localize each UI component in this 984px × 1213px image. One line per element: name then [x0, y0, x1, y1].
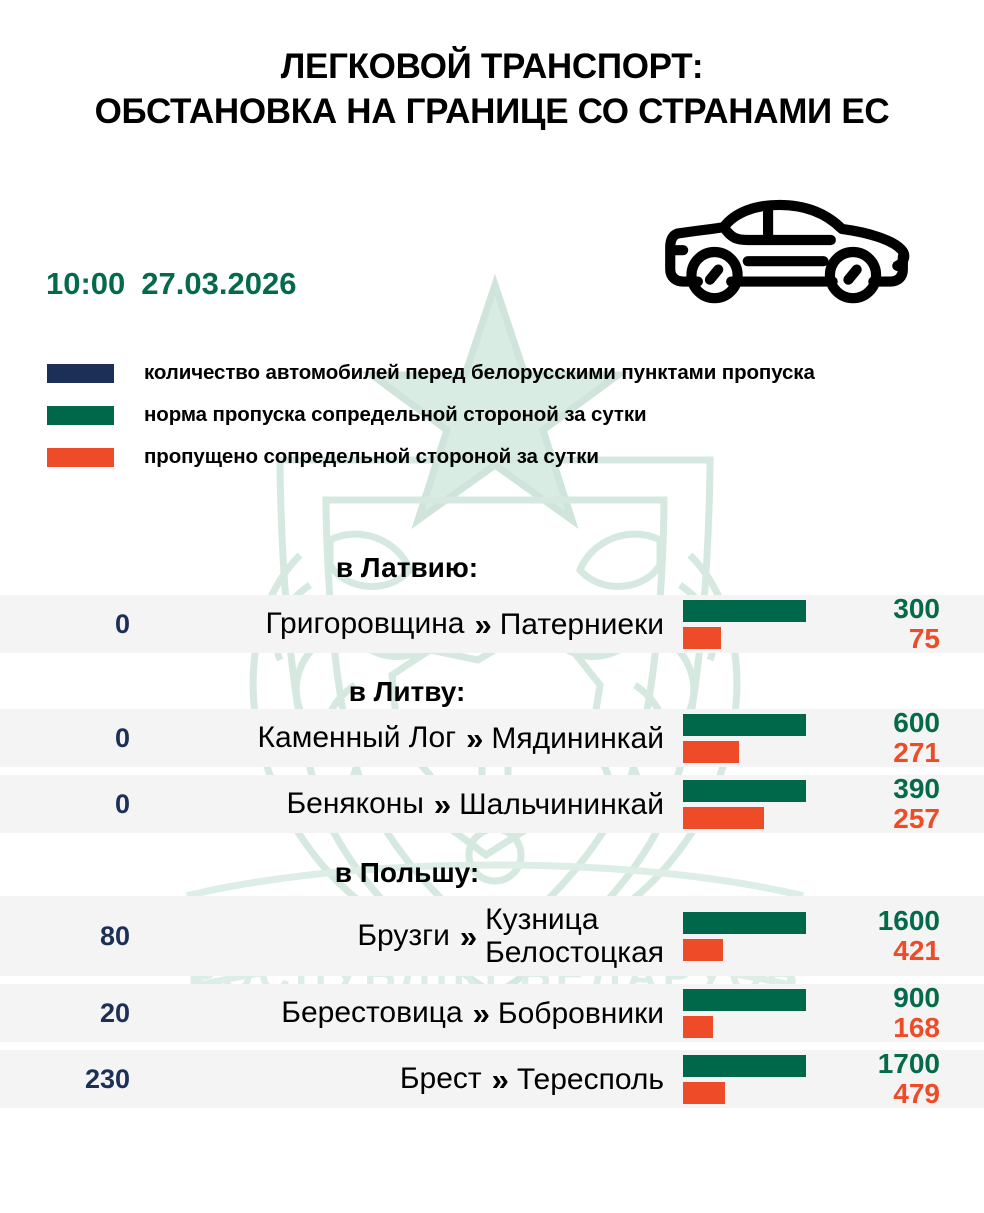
arrow-right-icon: » [466, 723, 481, 754]
value-group: 1600 421 [828, 906, 984, 966]
arrow-right-icon: » [434, 789, 449, 820]
queue-count: 80 [0, 921, 172, 952]
checkpoint-from: Григоровщина [266, 607, 465, 641]
section-heading-poland: в Польшу: [0, 841, 984, 896]
arrow-right-icon: » [474, 609, 489, 640]
queue-count: 230 [0, 1064, 172, 1095]
section-heading-latvia: в Латвию: [0, 540, 984, 595]
bar-group [676, 912, 828, 961]
bar-passed [683, 939, 723, 961]
legend-swatch-passed [47, 448, 114, 467]
table-row: 80 Брузги » Кузница Белостоцкая 1600 421 [0, 896, 984, 976]
legend-label-norm: норма пропуска сопредельной стороной за … [144, 403, 647, 427]
table-row: 20 Берестовица » Бобровники 900 168 [0, 984, 984, 1042]
table-row: 0 Григоровщина » Патерниеки 300 75 [0, 595, 984, 653]
table-row: 0 Беняконы » Шальчининкай 390 257 [0, 775, 984, 833]
checkpoint-from: Брузги [357, 919, 450, 953]
checkpoint-to: Тересполь [517, 1063, 664, 1096]
checkpoint-from: Берестовица [281, 996, 462, 1030]
bar-passed [683, 807, 764, 829]
bar-norm [683, 714, 806, 736]
value-passed: 421 [828, 936, 940, 966]
arrow-right-icon: » [460, 921, 475, 952]
bar-group [676, 600, 828, 649]
legend-swatch-norm [47, 406, 114, 425]
section-heading-lithuania: в Литву: [0, 661, 984, 709]
queue-count: 0 [0, 609, 172, 640]
queue-count: 0 [0, 723, 172, 754]
value-passed: 75 [828, 624, 940, 654]
bar-passed [683, 1016, 713, 1038]
bar-norm [683, 989, 806, 1011]
value-norm: 390 [828, 774, 940, 804]
arrow-right-icon: » [492, 1064, 507, 1095]
bar-group [676, 780, 828, 829]
page-title: ЛЕГКОВОЙ ТРАНСПОРТ: ОБСТАНОВКА НА ГРАНИЦ… [0, 44, 984, 134]
checkpoint-to: Кузница Белостоцкая [485, 903, 664, 969]
bar-group [676, 714, 828, 763]
checkpoint-from: Беняконы [286, 787, 423, 821]
value-norm: 900 [828, 983, 940, 1013]
table-row: 230 Брест » Тересполь 1700 479 [0, 1050, 984, 1108]
value-norm: 1700 [828, 1049, 940, 1079]
bar-norm [683, 780, 806, 802]
checkpoint-from: Брест [400, 1062, 482, 1096]
crossings-table: в Латвию: 0 Григоровщина » Патерниеки 30… [0, 540, 984, 1116]
legend-label-passed: пропущено сопредельной стороной за сутки [144, 445, 599, 469]
legend: количество автомобилей перед белорусским… [47, 352, 815, 478]
legend-item-norm: норма пропуска сопредельной стороной за … [47, 394, 815, 436]
checkpoint-to: Патерниеки [500, 608, 664, 641]
legend-swatch-queue [47, 364, 114, 383]
timestamp-date: 27.03.2026 [141, 266, 296, 301]
page-title-line-2: ОБСТАНОВКА НА ГРАНИЦЕ СО СТРАНАМИ ЕС [0, 89, 984, 134]
bar-norm [683, 600, 806, 622]
value-group: 900 168 [828, 983, 984, 1043]
legend-label-queue: количество автомобилей перед белорусским… [144, 361, 815, 385]
crossing-pair: Брузги » Кузница Белостоцкая [172, 903, 676, 969]
checkpoint-from: Каменный Лог [258, 721, 457, 755]
value-passed: 168 [828, 1013, 940, 1043]
crossing-pair: Григоровщина » Патерниеки [172, 607, 676, 641]
legend-item-passed: пропущено сопредельной стороной за сутки [47, 436, 815, 478]
checkpoint-to: Бобровники [498, 997, 664, 1030]
queue-count: 20 [0, 998, 172, 1029]
value-passed: 271 [828, 738, 940, 768]
value-norm: 300 [828, 594, 940, 624]
value-group: 300 75 [828, 594, 984, 654]
legend-item-queue: количество автомобилей перед белорусским… [47, 352, 815, 394]
queue-count: 0 [0, 789, 172, 820]
crossing-pair: Каменный Лог » Мядининкай [172, 721, 676, 755]
timestamp: 10:0027.03.2026 [46, 266, 296, 302]
value-group: 600 271 [828, 708, 984, 768]
value-norm: 1600 [828, 906, 940, 936]
bar-norm [683, 912, 806, 934]
arrow-right-icon: » [473, 998, 488, 1029]
bar-group [676, 989, 828, 1038]
bar-passed [683, 1082, 725, 1104]
bar-passed [683, 627, 721, 649]
value-group: 1700 479 [828, 1049, 984, 1109]
value-norm: 600 [828, 708, 940, 738]
value-group: 390 257 [828, 774, 984, 834]
crossing-pair: Берестовица » Бобровники [172, 996, 676, 1030]
page-title-line-1: ЛЕГКОВОЙ ТРАНСПОРТ: [0, 44, 984, 89]
crossing-pair: Брест » Тересполь [172, 1062, 676, 1096]
timestamp-time: 10:00 [46, 266, 125, 301]
value-passed: 479 [828, 1079, 940, 1109]
value-passed: 257 [828, 804, 940, 834]
crossing-pair: Беняконы » Шальчининкай [172, 787, 676, 821]
checkpoint-to: Шальчининкай [459, 788, 664, 821]
checkpoint-to: Мядининкай [491, 722, 664, 755]
bar-norm [683, 1055, 806, 1077]
bar-passed [683, 741, 739, 763]
bar-group [676, 1055, 828, 1104]
table-row: 0 Каменный Лог » Мядининкай 600 271 [0, 709, 984, 767]
car-icon [658, 192, 928, 312]
